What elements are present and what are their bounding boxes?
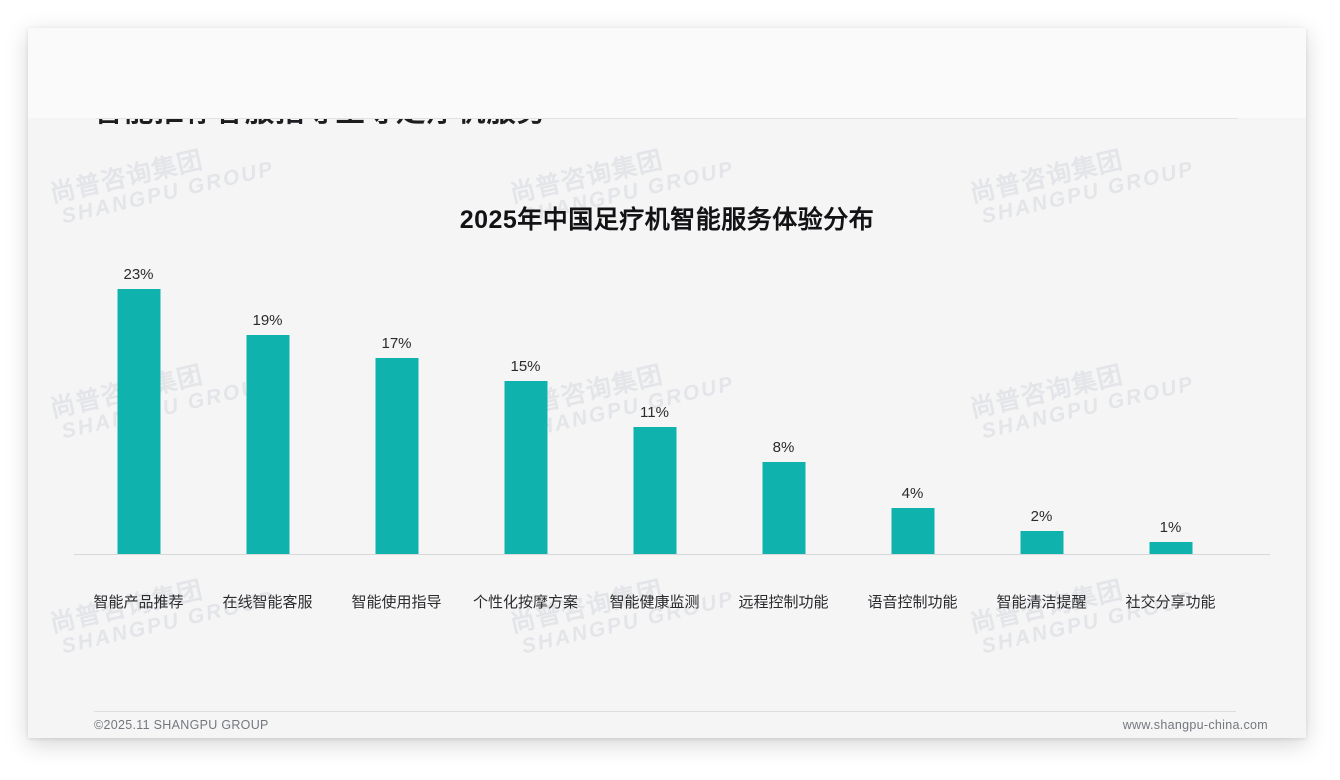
chart-category-label: 智能产品推荐: [74, 591, 203, 612]
chart-bar-group: 11%: [590, 266, 719, 554]
chart-bar-value-label: 23%: [123, 266, 153, 283]
chart-bar[interactable]: [1149, 542, 1192, 554]
chart-bar-group: 15%: [461, 266, 590, 554]
chart-category-label: 智能使用指导: [332, 591, 461, 612]
chart-x-axis-labels: 智能产品推荐在线智能客服智能使用指导个性化按摩方案智能健康监测远程控制功能语音控…: [74, 591, 1264, 615]
chart-bar-group: 1%: [1106, 266, 1235, 554]
chart-bar-group: 17%: [332, 266, 461, 554]
chart-bar[interactable]: [117, 289, 160, 554]
chart-bar[interactable]: [504, 381, 547, 554]
watermark-cn: 尚普咨询集团: [508, 133, 732, 208]
chart-category-label: 社交分享功能: [1106, 591, 1235, 612]
chart-bar-group: 19%: [203, 266, 332, 554]
chart-bar[interactable]: [633, 427, 676, 554]
chart-bar-value-label: 2%: [1031, 508, 1053, 525]
watermark-cn: 尚普咨询集团: [48, 133, 272, 208]
chart-plot-area: 23%19%17%15%11%8%4%2%1%: [74, 266, 1264, 554]
chart-x-axis-line: [74, 554, 1270, 555]
chart-bar-value-label: 1%: [1160, 519, 1182, 536]
chart-bar[interactable]: [375, 358, 418, 554]
footer-website[interactable]: www.shangpu-china.com: [1123, 718, 1268, 732]
chart-bar-value-label: 11%: [640, 404, 669, 421]
chart-bar-value-label: 4%: [902, 485, 924, 502]
chart-category-label: 远程控制功能: [719, 591, 848, 612]
chart-bar[interactable]: [1020, 531, 1063, 554]
chart-bar-group: 8%: [719, 266, 848, 554]
chart-bar-group: 23%: [74, 266, 203, 554]
slide-footer: ©2025.11 SHANGPU GROUP www.shangpu-china…: [28, 712, 1306, 738]
chart-category-label: 智能清洁提醒: [977, 591, 1106, 612]
chart-bar[interactable]: [762, 462, 805, 554]
chart-bar[interactable]: [246, 335, 289, 554]
watermark-cn: 尚普咨询集团: [968, 133, 1192, 208]
chart-category-label: 智能健康监测: [590, 591, 719, 612]
slide-canvas: 尚普咨询集团SHANGPU GROUP尚普咨询集团SHANGPU GROUP尚普…: [28, 28, 1306, 738]
chart-bar[interactable]: [891, 508, 934, 554]
chart-title: 2025年中国足疗机智能服务体验分布: [28, 200, 1306, 236]
chart-bar-value-label: 8%: [773, 439, 795, 456]
chart-category-label: 个性化按摩方案: [461, 591, 590, 612]
chart-bar-value-label: 17%: [381, 335, 411, 352]
slide-header: [28, 28, 1306, 118]
header-divider: [96, 118, 1238, 119]
chart-category-label: 在线智能客服: [203, 591, 332, 612]
chart-category-label: 语音控制功能: [848, 591, 977, 612]
chart-bar-group: 4%: [848, 266, 977, 554]
chart-bar-group: 2%: [977, 266, 1106, 554]
chart-bar-value-label: 15%: [510, 358, 540, 375]
footer-copyright: ©2025.11 SHANGPU GROUP: [94, 718, 269, 732]
chart-bar-value-label: 19%: [252, 312, 282, 329]
